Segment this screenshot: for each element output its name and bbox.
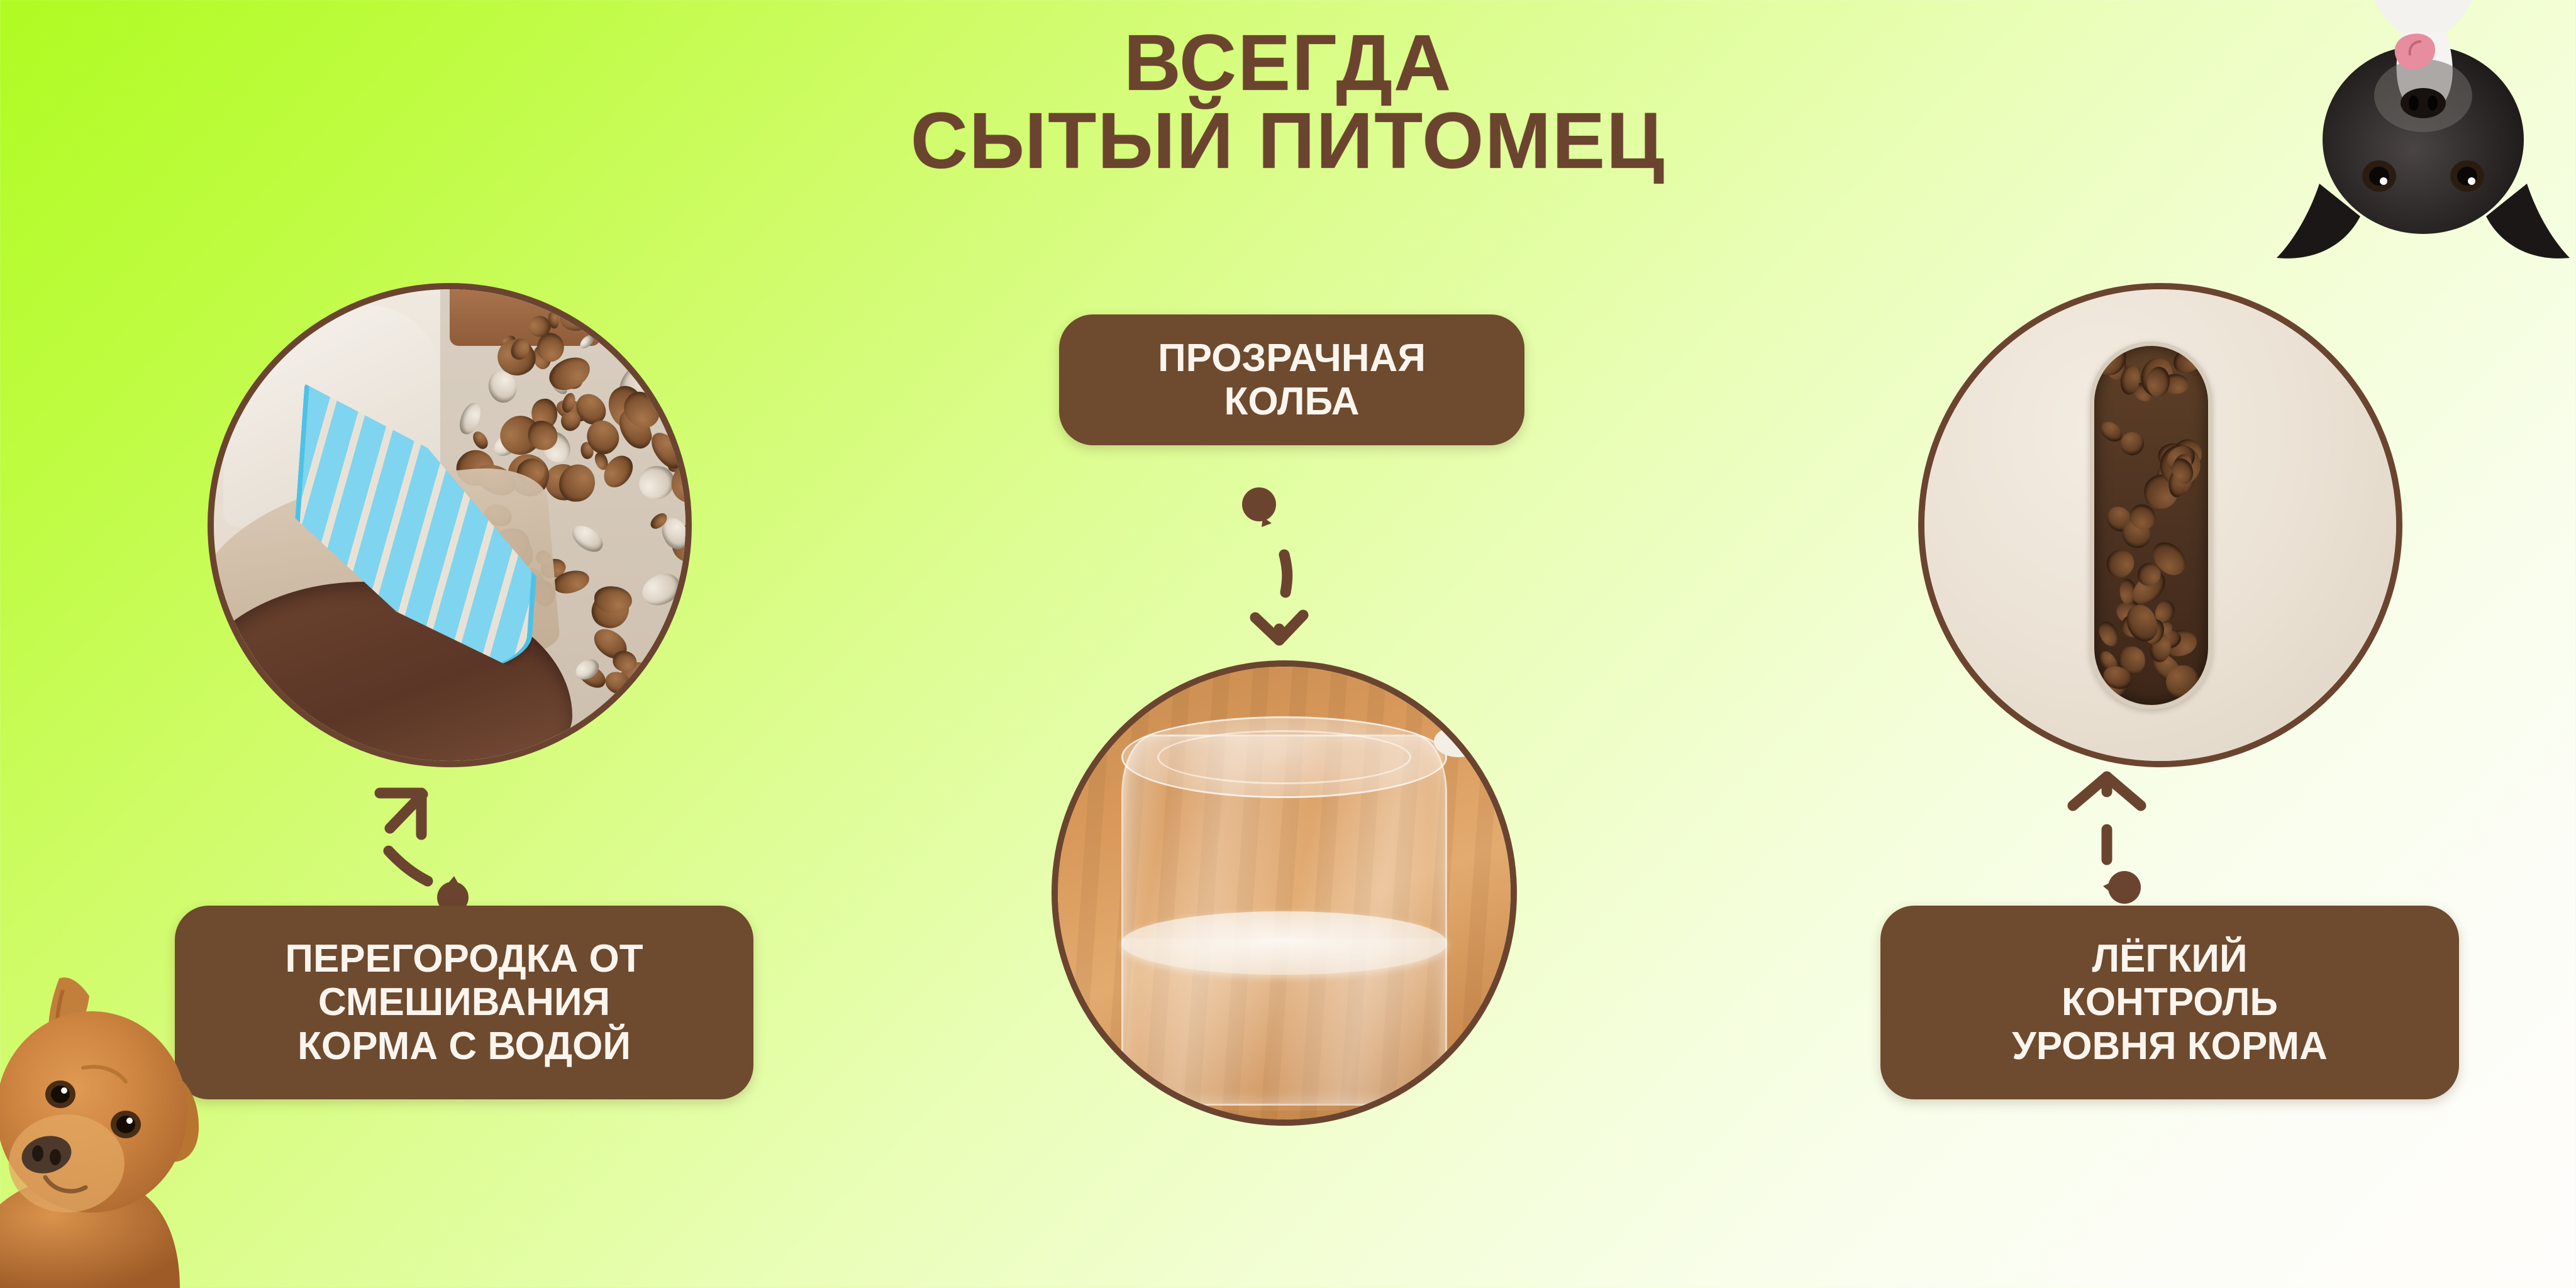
- label-line: ПРОЗРАЧНАЯ: [1158, 336, 1426, 380]
- title-line-1: ВСЕГДА: [0, 25, 2576, 101]
- level-illustration: [1924, 289, 2396, 761]
- arrow-up-icon: [2044, 764, 2195, 915]
- feature-image-flask: [1052, 660, 1517, 1126]
- dog-bottom-left-photo: [0, 956, 243, 1288]
- label-line: УРОВНЯ КОРМА: [2012, 1024, 2328, 1068]
- feature-label-level[interactable]: ЛЁГКИЙ КОНТРОЛЬ УРОВНЯ КОРМА: [1880, 906, 2459, 1099]
- flask-illustration: [1058, 667, 1511, 1119]
- kibble-level-window-icon: [2090, 341, 2212, 709]
- divider-illustration: [214, 289, 686, 761]
- label-line: ЛЁГКИЙ: [2012, 937, 2328, 980]
- arrow-up-right-icon: [352, 758, 528, 915]
- feature-image-divider: [208, 283, 692, 767]
- title-line-2: СЫТЫЙ ПИТОМЕЦ: [0, 103, 2576, 179]
- page-title: ВСЕГДА СЫТЫЙ ПИТОМЕЦ: [0, 25, 2576, 178]
- label-line: КОЛБА: [1158, 380, 1426, 423]
- arrow-down-icon: [1214, 478, 1365, 654]
- label-line: КОНТРОЛЬ: [2012, 980, 2328, 1024]
- label-line: ПЕРЕГОРОДКА ОТ: [285, 937, 643, 980]
- feature-image-level: [1918, 283, 2402, 767]
- feature-label-divider[interactable]: ПЕРЕГОРОДКА ОТ СМЕШИВАНИЯ КОРМА С ВОДОЙ: [175, 906, 753, 1099]
- label-line: КОРМА С ВОДОЙ: [285, 1024, 643, 1068]
- dog-top-right-photo: [2275, 0, 2571, 265]
- feature-label-flask[interactable]: ПРОЗРАЧНАЯ КОЛБА: [1059, 314, 1524, 445]
- label-line: СМЕШИВАНИЯ: [285, 980, 643, 1024]
